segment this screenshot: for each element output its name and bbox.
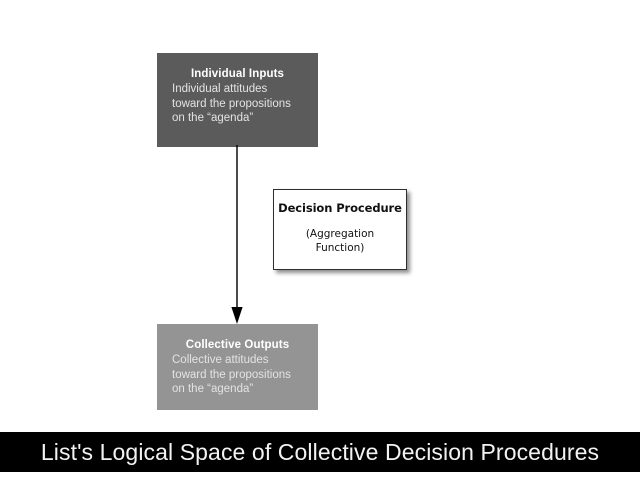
node-collective-outputs-body-line-2: toward the propositions (172, 368, 312, 383)
node-decision-procedure-title: Decision Procedure (274, 201, 406, 215)
footer-title: List's Logical Space of Collective Decis… (0, 432, 640, 472)
node-collective-outputs-body-line-1: Collective attitudes (172, 353, 312, 368)
footer-banner: List's Logical Space of Collective Decis… (0, 432, 640, 472)
node-individual-inputs-body-line-3: on the “agenda” (172, 111, 312, 126)
node-decision-procedure-body: (Aggregation Function) (274, 227, 406, 255)
node-collective-outputs: Collective Outputs Collective attitudes … (157, 324, 318, 410)
node-collective-outputs-body-line-3: on the “agenda” (172, 382, 312, 397)
node-collective-outputs-body: Collective attitudes toward the proposit… (157, 353, 318, 397)
node-collective-outputs-title: Collective Outputs (157, 338, 318, 352)
down-arrow-icon (228, 145, 246, 325)
slide-canvas: Individual Inputs Individual attitudes t… (0, 0, 640, 480)
node-individual-inputs-body-line-1: Individual attitudes (172, 82, 312, 97)
node-individual-inputs: Individual Inputs Individual attitudes t… (157, 53, 318, 147)
node-decision-procedure: Decision Procedure (Aggregation Function… (273, 189, 407, 270)
node-decision-procedure-body-line-2: Function) (274, 241, 406, 255)
node-decision-procedure-body-line-1: (Aggregation (274, 227, 406, 241)
node-individual-inputs-body-line-2: toward the propositions (172, 97, 312, 112)
node-individual-inputs-body: Individual attitudes toward the proposit… (157, 82, 318, 126)
node-individual-inputs-title: Individual Inputs (157, 67, 318, 81)
